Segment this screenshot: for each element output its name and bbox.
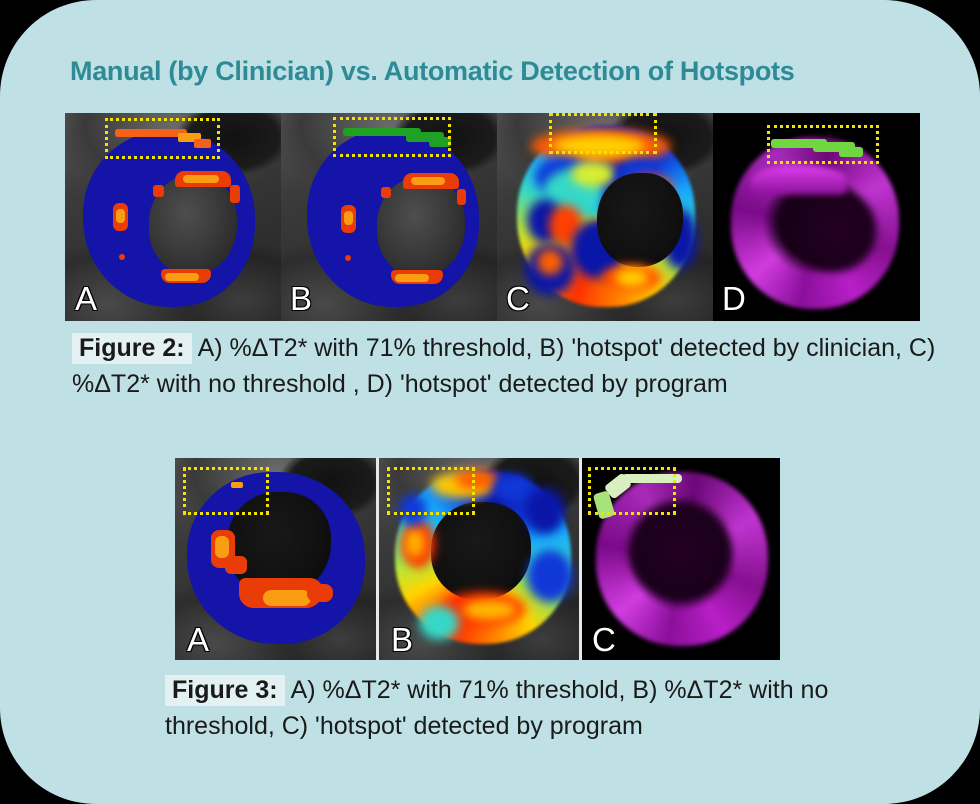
hotspot-blob	[345, 255, 351, 261]
hotspot-blob	[230, 185, 240, 203]
jet-hot-region	[405, 528, 425, 558]
magenta-bright-arc	[751, 165, 847, 195]
hotspot-blob	[457, 189, 466, 205]
figure3-image-strip: A B	[175, 458, 780, 660]
figure2-panel-d[interactable]: D	[713, 113, 920, 321]
panel-letter: A	[187, 623, 209, 656]
hotspot-blob	[344, 211, 353, 225]
figure2-caption-text: A) %ΔT2* with 71% threshold, B) 'hotspot…	[72, 334, 935, 398]
hotspot-blob	[225, 556, 247, 574]
jet-mid-region	[571, 161, 615, 187]
roi-box[interactable]	[549, 113, 657, 154]
roi-box[interactable]	[387, 467, 475, 515]
roi-box[interactable]	[105, 118, 220, 159]
hotspot-blob	[395, 274, 429, 282]
figure2-caption: Figure 2:A) %ΔT2* with 71% threshold, B)…	[72, 330, 942, 402]
figure3-panel-b[interactable]: B	[379, 458, 582, 660]
slide-canvas: Manual (by Clinician) vs. Automatic Dete…	[0, 0, 980, 804]
page-title: Manual (by Clinician) vs. Automatic Dete…	[70, 56, 920, 87]
jet-hot-region	[463, 600, 517, 620]
jet-cold-region	[525, 488, 565, 534]
figure2-panel-b[interactable]: B	[281, 113, 497, 321]
lv-cavity	[628, 500, 732, 600]
lv-cavity	[791, 187, 877, 273]
panel-letter: B	[290, 282, 312, 315]
hotspot-blob	[263, 590, 311, 606]
panel-letter: D	[722, 282, 746, 315]
figure2-panel-a[interactable]: A	[65, 113, 281, 321]
panel-letter: B	[391, 623, 413, 656]
figure3-panel-c[interactable]: C	[582, 458, 780, 660]
panel-letter: A	[75, 282, 97, 315]
roi-box[interactable]	[333, 117, 451, 157]
jet-mid-region	[419, 606, 459, 640]
panel-letter: C	[506, 282, 530, 315]
roi-box[interactable]	[767, 125, 879, 164]
roi-box[interactable]	[588, 467, 676, 515]
hotspot-blob	[183, 175, 219, 183]
hotspot-blob	[411, 177, 445, 185]
jet-cold-region	[493, 474, 533, 502]
hotspot-blob	[119, 254, 125, 260]
hotspot-blob	[215, 536, 229, 558]
hotspot-blob	[307, 584, 333, 602]
figure3-tag: Figure 3:	[165, 675, 285, 706]
hotspot-blob	[153, 185, 164, 197]
jet-cold-region	[527, 550, 573, 602]
hotspot-blob	[116, 209, 125, 223]
roi-box[interactable]	[183, 467, 269, 515]
hotspot-blob	[165, 273, 199, 281]
figure2-panel-c[interactable]: C	[497, 113, 713, 321]
jet-hot-region	[615, 269, 649, 287]
figure3-panel-a[interactable]: A	[175, 458, 379, 660]
jet-hot-region	[537, 249, 563, 275]
hotspot-blob	[381, 187, 391, 198]
panel-letter: C	[592, 623, 616, 656]
figure3-caption: Figure 3:A) %ΔT2* with 71% threshold, B)…	[165, 672, 925, 744]
lv-cavity	[597, 173, 683, 267]
figure2-tag: Figure 2:	[72, 333, 192, 364]
figure2-image-strip: A B	[65, 113, 920, 321]
lv-cavity	[431, 502, 531, 600]
